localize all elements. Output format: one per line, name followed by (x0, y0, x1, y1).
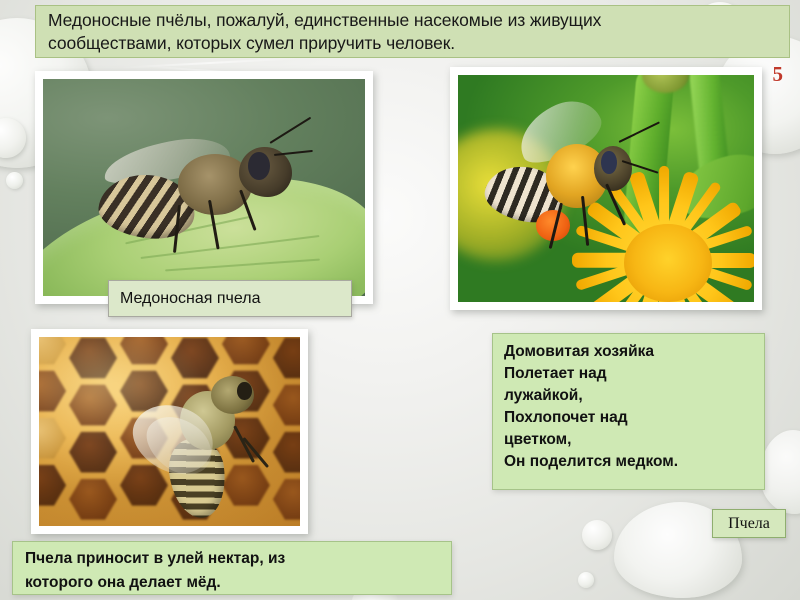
header-text: Медоносные пчёлы, пожалуй, единственные … (48, 9, 601, 55)
bee-illustration-icon (485, 125, 657, 243)
bottom-note-textbox: Пчела приносит в улей нектар, из которог… (12, 541, 452, 595)
honeycomb-cell-icon (39, 416, 66, 460)
highlight-streak-icon (120, 57, 300, 68)
riddle-line: цветком, (504, 429, 755, 451)
honeycomb-cell-icon (69, 430, 117, 474)
bee-illustration-icon (95, 127, 314, 253)
page-number: 5 (773, 62, 784, 87)
photo-bee-on-leaf (35, 71, 373, 304)
honeycomb-cell-icon (69, 337, 117, 380)
honeycomb-column (273, 337, 300, 526)
honeycomb-cell-icon (273, 477, 300, 521)
header-banner: Медоносные пчёлы, пожалуй, единственные … (35, 5, 790, 58)
bee-antenna-icon (618, 122, 659, 143)
bubble-decoration-icon (6, 172, 23, 189)
honeycomb-cell-icon (39, 369, 66, 413)
honeycomb-cell-icon (39, 463, 66, 507)
photo-bee-flying-to-flower-image (458, 75, 754, 302)
honeycomb-cell-icon (273, 383, 300, 427)
bee-eye-icon (601, 151, 616, 175)
riddle-textbox: Домовитая хозяйка Полетает над лужайкой,… (492, 333, 765, 490)
caption-honeybee-text: Медоносная пчела (120, 290, 260, 308)
header-line-2: сообществами, которых сумел приручить че… (48, 32, 601, 55)
honeycomb-cell-icon (39, 337, 66, 366)
droplet-decoration-icon (582, 520, 612, 550)
bubble-decoration-icon (0, 118, 26, 158)
photo-bee-flying-to-flower (450, 67, 762, 310)
slide-canvas: Медоносные пчёлы, пожалуй, единственные … (0, 0, 800, 600)
riddle-line: лужайкой, (504, 385, 755, 407)
bee-eye-icon (248, 152, 270, 180)
photo-bee-on-honeycomb (31, 329, 308, 534)
riddle-line: Похлопочет над (504, 407, 755, 429)
droplet-decoration-icon (578, 572, 594, 588)
riddle-line: Он поделится медком. (504, 451, 755, 473)
riddle-line: Домовитая хозяйка (504, 341, 755, 363)
honeycomb-column (39, 337, 66, 526)
honeycomb-cell-icon (273, 430, 300, 474)
honeycomb-cell-icon (120, 337, 168, 366)
honeycomb-cell-icon (273, 337, 300, 380)
bee-antenna-icon (269, 116, 311, 143)
photo-bee-on-leaf-image (43, 79, 365, 296)
honeycomb-cell-icon (69, 477, 117, 521)
photo-bee-on-honeycomb-image (39, 337, 300, 526)
bee-illustration-icon (149, 367, 269, 514)
bottom-note-line: Пчела приносит в улей нектар, из (25, 547, 441, 571)
caption-honeybee: Медоносная пчела (108, 280, 352, 317)
bottom-note-line: которого она делает мёд. (25, 571, 441, 595)
riddle-line: Полетает над (504, 363, 755, 385)
honeycomb-cell-icon (222, 337, 270, 366)
honeycomb-cell-icon (69, 383, 117, 427)
honeycomb-column (69, 337, 117, 526)
label-bee: Пчела (712, 509, 786, 538)
bee-eye-icon (237, 382, 251, 400)
header-line-1: Медоносные пчёлы, пожалуй, единственные … (48, 9, 601, 32)
bubble-decoration-icon (760, 430, 800, 514)
label-bee-text: Пчела (728, 515, 770, 533)
